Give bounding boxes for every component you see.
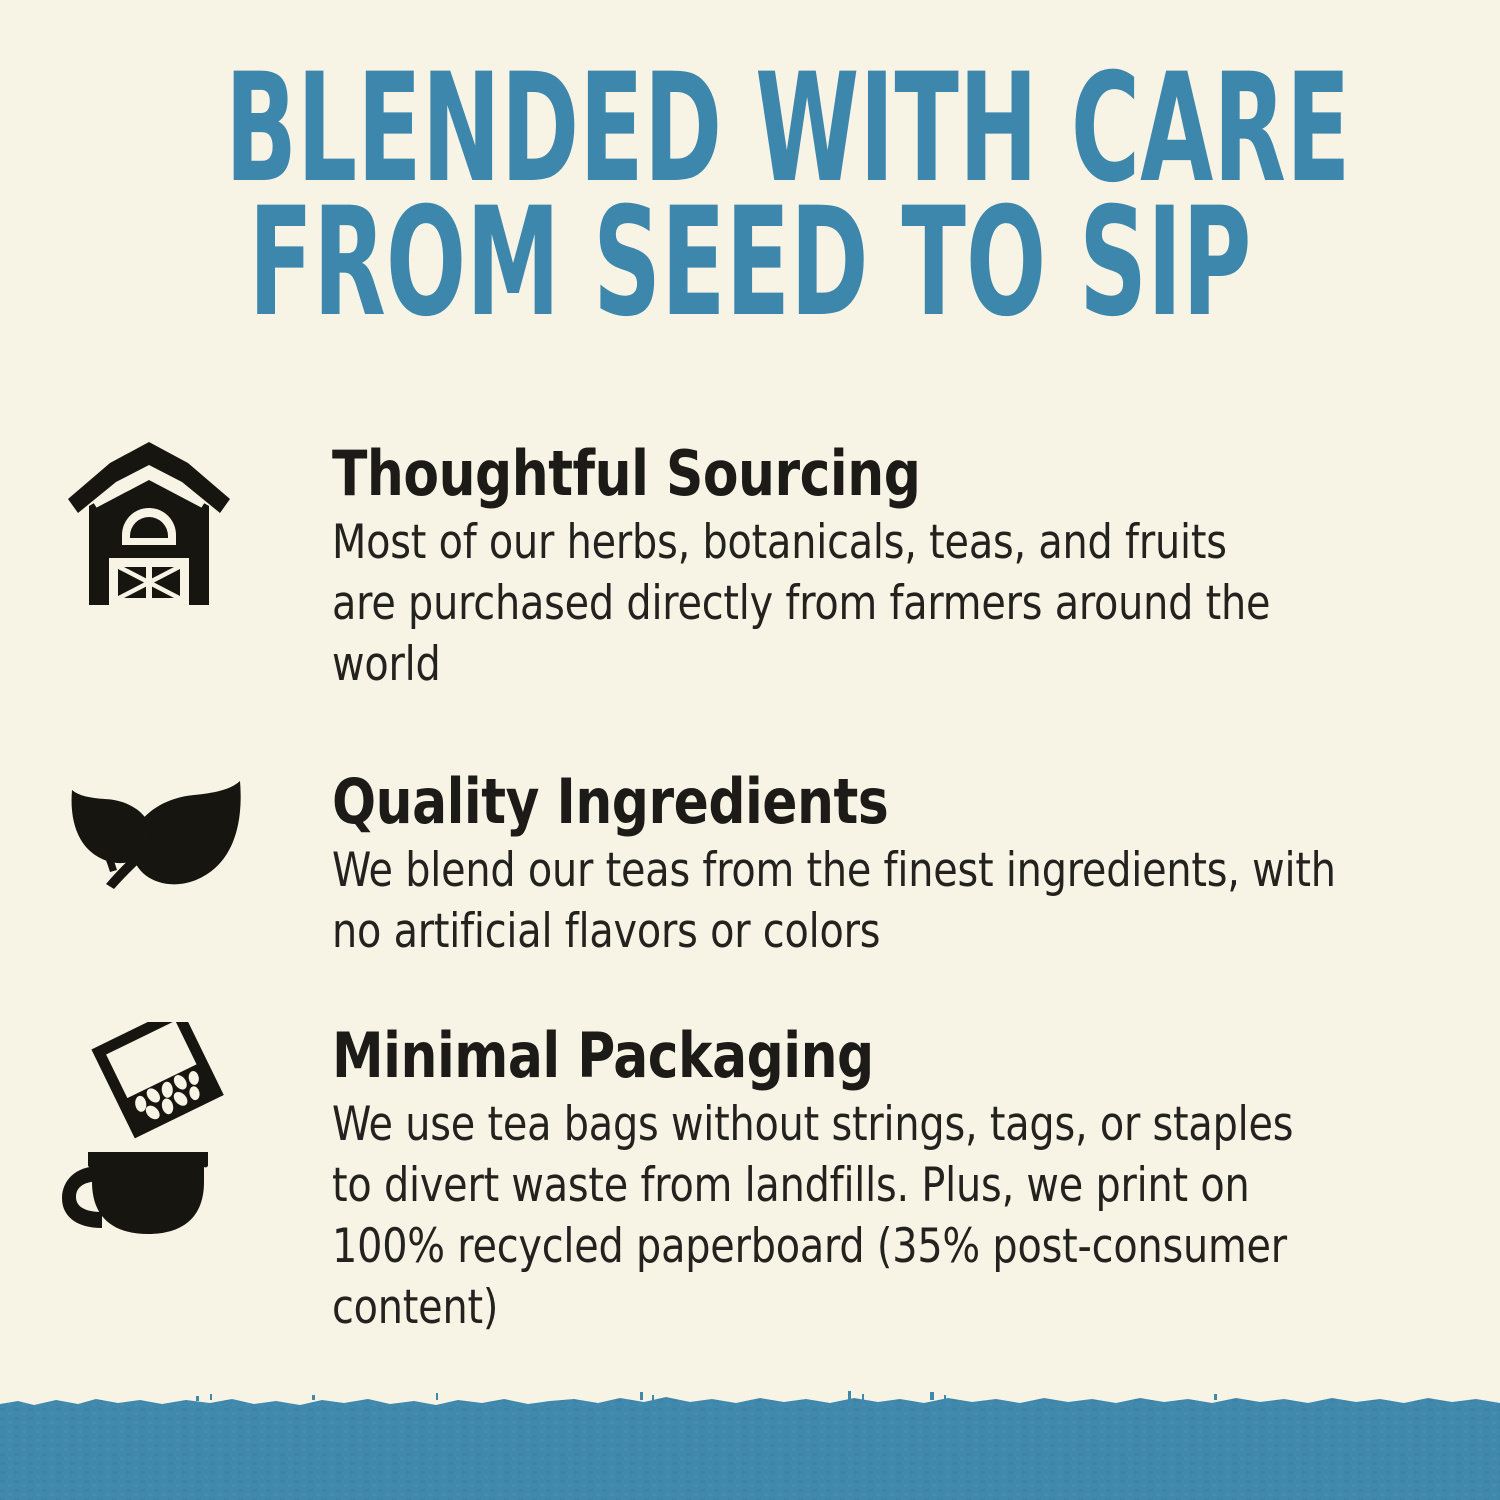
- feature-body: We blend our teas from the finest ingred…: [332, 840, 1338, 962]
- page-title: BLENDED WITH CARE FROM SEED TO SIP: [225, 62, 1275, 330]
- infographic-panel: BLENDED WITH CARE FROM SEED TO SIP: [0, 0, 1500, 1500]
- feature-title: Minimal Packaging: [332, 1022, 1327, 1090]
- leaves-icon: [62, 768, 252, 893]
- bottom-accent-band: [0, 1390, 1500, 1500]
- feature-text-wrap: Thoughtful Sourcing Most of our herbs, b…: [332, 440, 1402, 695]
- feature-title: Thoughtful Sourcing: [332, 440, 1327, 508]
- feature-title: Quality Ingredients: [332, 768, 1327, 836]
- feature-body: Most of our herbs, botanicals, teas, and…: [332, 512, 1272, 695]
- feature-body: We use tea bags without strings, tags, o…: [332, 1094, 1338, 1338]
- leaves-icon-wrap: [62, 768, 272, 978]
- teabag-mug-icon-wrap: [62, 1022, 272, 1237]
- barn-icon: [62, 440, 237, 612]
- teabag-mug-icon: [62, 1022, 232, 1234]
- headline-line-2: FROM SEED TO SIP: [225, 196, 1275, 330]
- barn-icon-wrap: [62, 440, 272, 650]
- feature-text-wrap: Quality Ingredients We blend our teas fr…: [332, 768, 1402, 962]
- feature-text-wrap: Minimal Packaging We use tea bags withou…: [332, 1022, 1402, 1338]
- torn-edge-band: [0, 1390, 1500, 1500]
